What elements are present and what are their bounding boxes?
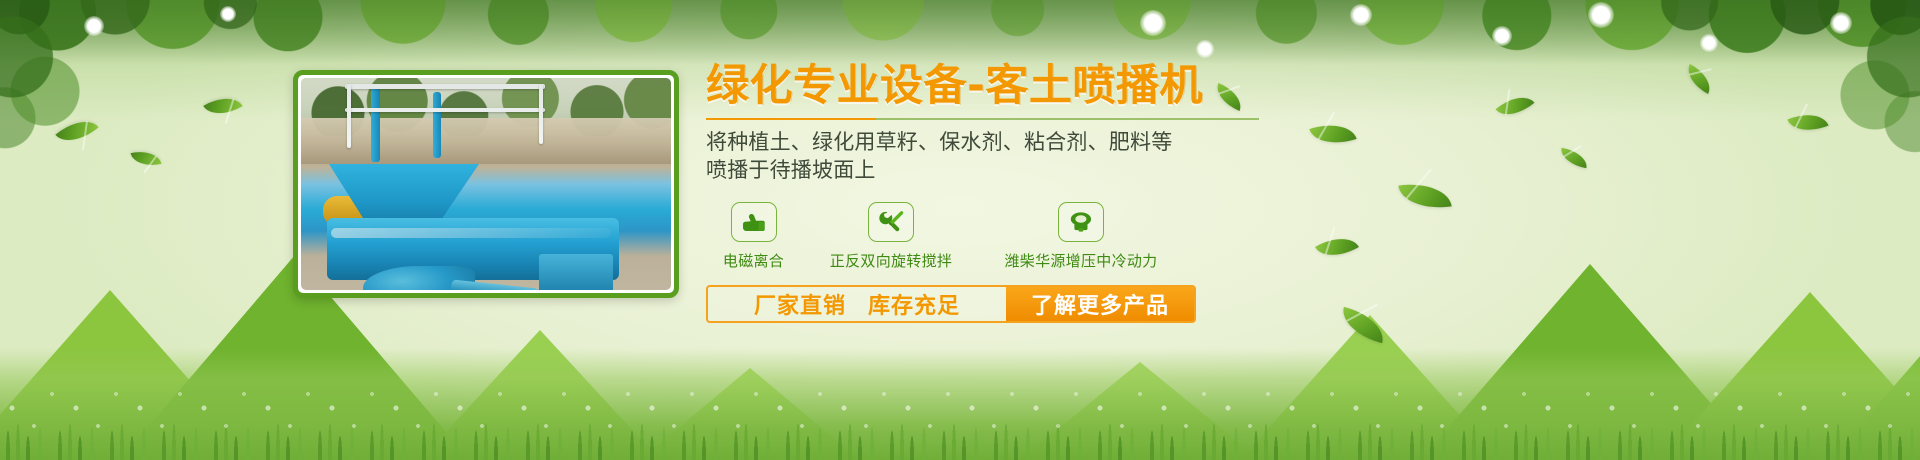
feature-icon-box: [868, 202, 914, 242]
cta-highlight-factory-direct: 厂家直销: [754, 288, 846, 320]
feature-item-bidirectional-mixing: 正反双向旋转搅拌: [801, 202, 981, 271]
blossom-icon: [1196, 40, 1214, 58]
feature-label: 电磁离合: [706, 250, 801, 271]
clamp-icon: [741, 211, 767, 233]
title-divider: [706, 118, 1259, 120]
feature-label: 正反双向旋转搅拌: [801, 250, 981, 271]
blossom-icon: [1350, 4, 1372, 26]
blossom-icon: [1492, 26, 1512, 46]
feature-item-electromagnetic-clutch: 电磁离合: [706, 202, 801, 271]
learn-more-button[interactable]: 了解更多产品: [1006, 287, 1194, 321]
feature-label: 潍柴华源增压中冷动力: [981, 250, 1181, 271]
product-photo: [301, 78, 671, 290]
leaf-icon: [1559, 148, 1589, 169]
cta-highlights: 厂家直销 库存充足: [708, 287, 1006, 321]
description-line-1: 将种植土、绿化用草籽、保水剂、粘合剂、肥料等: [706, 129, 1266, 157]
banner-description: 将种植土、绿化用草籽、保水剂、粘合剂、肥料等 喷播于待播坡面上: [706, 129, 1266, 184]
feature-item-weichai-power: 潍柴华源增压中冷动力: [981, 202, 1181, 271]
banner-title: 绿化专业设备-客土喷播机: [706, 64, 1266, 109]
blossom-icon: [1140, 10, 1166, 36]
top-foliage-shadow-decoration: [0, 0, 1920, 64]
engine-icon: [1067, 211, 1095, 233]
leaf-icon: [1309, 116, 1356, 152]
blossom-icon: [1830, 12, 1852, 34]
cta-highlight-stock: 库存充足: [868, 288, 960, 320]
feature-icon-box: [731, 202, 777, 242]
blossom-icon: [1700, 34, 1718, 52]
tools-icon: [878, 210, 904, 234]
photo-vignette: [301, 78, 671, 290]
feature-icon-box: [1058, 202, 1104, 242]
grass-highlight-decoration: [0, 364, 1920, 460]
right-foliage-decoration: [1670, 0, 1920, 190]
promo-banner: 绿化专业设备-客土喷播机 将种植土、绿化用草籽、保水剂、粘合剂、肥料等 喷播于待…: [0, 0, 1920, 460]
leaf-icon: [1398, 179, 1451, 214]
banner-content: 绿化专业设备-客土喷播机 将种植土、绿化用草籽、保水剂、粘合剂、肥料等 喷播于待…: [706, 64, 1266, 323]
blossom-icon: [220, 6, 236, 22]
blossom-icon: [84, 16, 104, 36]
feature-list: 电磁离合 正反双向旋转搅拌: [706, 202, 1266, 271]
left-foliage-decoration: [0, 0, 250, 190]
cta-bar: 厂家直销 库存充足 了解更多产品: [706, 285, 1196, 323]
product-photo-frame: [293, 70, 679, 298]
blossom-icon: [1588, 2, 1614, 28]
description-line-2: 喷播于待播坡面上: [706, 157, 1266, 185]
